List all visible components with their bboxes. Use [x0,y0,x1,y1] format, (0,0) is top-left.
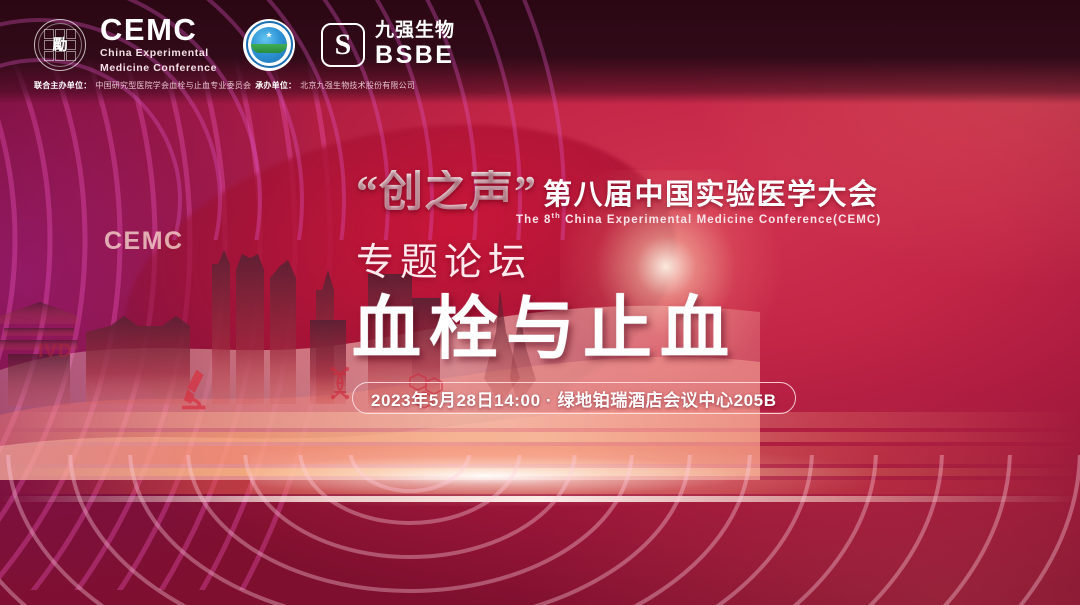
forum-headline: 血栓与止血 [352,294,737,363]
poster-content: “创之声” 第八届中国实验医学大会 The 8th China Experime… [0,0,1080,605]
conference-slogan: “创之声” [356,170,537,216]
title-en-pre: The 8 [516,214,552,226]
title-en-post: China Experimental Medicine Conference(C… [561,214,881,226]
forum-label: 专题论坛 [356,243,532,281]
title-en-sup: th [552,211,561,220]
conference-poster: CEMC IVD [0,0,1080,605]
event-info-pill: 2023年5月28日14:00 · 绿地铂瑞酒店会议中心205B [352,382,796,414]
conference-title-english: The 8th China Experimental Medicine Conf… [516,211,881,226]
conference-title-row: “创之声” 第八届中国实验医学大会 [356,170,879,216]
